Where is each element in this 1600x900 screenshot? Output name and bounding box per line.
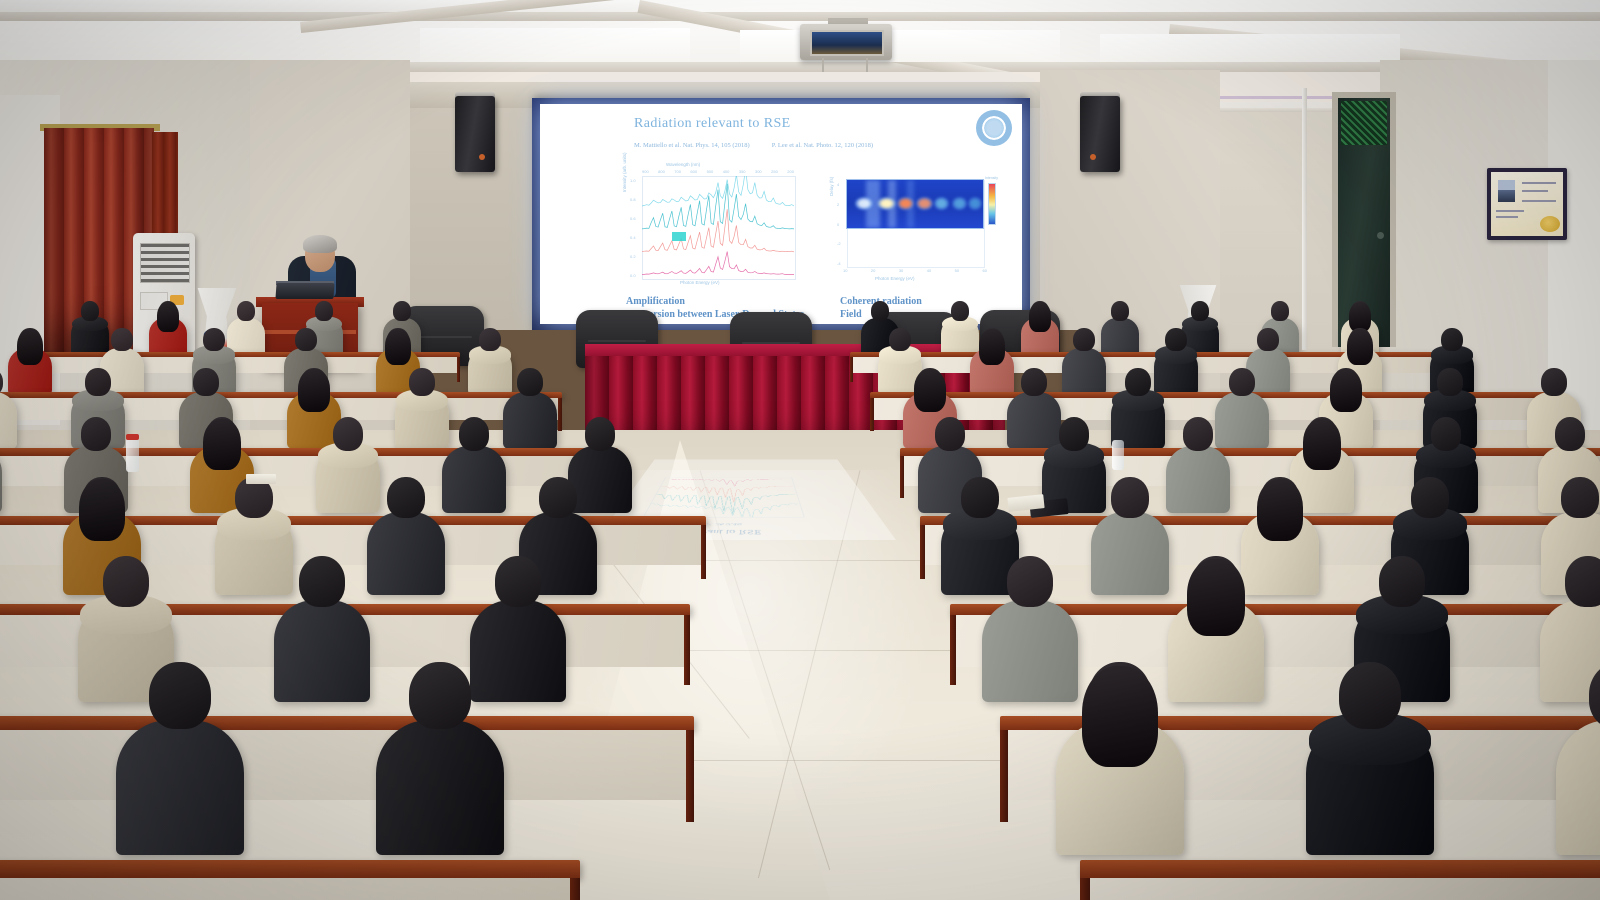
attendee-head	[393, 301, 411, 321]
attendee-body	[376, 720, 503, 855]
desk-top	[1080, 860, 1600, 878]
attendee-head	[517, 368, 543, 396]
attendee-head	[193, 368, 219, 396]
attendee-head	[1191, 301, 1209, 321]
attendee-long-hair	[1082, 666, 1158, 767]
audience-seating-area	[0, 0, 1600, 900]
desk-leg	[457, 357, 460, 381]
desk-leg	[900, 456, 904, 498]
attendee-head	[961, 477, 999, 518]
attendee-head	[299, 556, 346, 607]
attendee-long-hair	[1330, 369, 1362, 412]
attendee-head	[1257, 328, 1279, 352]
attendee-head	[1411, 477, 1449, 518]
attendee-head	[495, 556, 542, 607]
attendee-body	[367, 512, 445, 595]
attendee-head	[889, 328, 911, 352]
attendee-head	[1073, 328, 1095, 352]
attendee-long-hair	[1187, 559, 1245, 636]
attendee-head	[1059, 417, 1090, 451]
attendee-head	[1561, 477, 1599, 518]
attendee-head	[1339, 662, 1401, 730]
desk-leg	[686, 730, 694, 822]
desk-panel	[0, 878, 580, 900]
attendee-long-hair	[1347, 329, 1374, 365]
attendee-long-hair	[203, 419, 241, 469]
attendee-body	[503, 392, 556, 449]
water-bottle-cap	[126, 434, 139, 440]
attendee-head	[387, 477, 425, 518]
attendee-head	[409, 368, 435, 396]
attendee-body	[1007, 392, 1060, 449]
desk-leg	[1000, 730, 1008, 822]
attendee-head	[1271, 301, 1289, 321]
attendee-head	[1437, 368, 1463, 396]
attendee-body	[470, 600, 566, 702]
desk-panel	[0, 730, 694, 800]
desk-leg	[558, 398, 562, 430]
attendee-head	[81, 417, 112, 451]
attendee-head	[1021, 368, 1047, 396]
attendee-body	[442, 446, 505, 513]
attendee-head	[585, 417, 616, 451]
notebook-on-desk[interactable]	[246, 474, 276, 484]
attendee-head	[333, 417, 364, 451]
attendee-head	[111, 328, 133, 352]
desk-leg	[684, 615, 690, 685]
attendee-head	[871, 301, 889, 321]
attendee-head	[951, 301, 969, 321]
attendee-head	[1183, 417, 1214, 451]
attendee-long-hair	[17, 329, 44, 365]
attendee-long-hair	[914, 369, 946, 412]
lecture-hall-scene: Radiation relevant to RSE M. Mattiello e…	[0, 0, 1600, 900]
attendee-long-hair	[1029, 302, 1051, 332]
desk-leg	[950, 615, 956, 685]
attendee-head	[1165, 328, 1187, 352]
attendee-body	[982, 600, 1078, 702]
attendee-long-hair	[1257, 479, 1304, 541]
attendee-head	[1565, 556, 1600, 607]
attendee-body	[1215, 392, 1268, 449]
attendee-head	[103, 556, 150, 607]
attendee-head	[295, 328, 317, 352]
desk-leg	[850, 357, 853, 381]
desk-top	[0, 860, 580, 878]
desk-leg	[701, 525, 706, 579]
desk-panel	[1080, 878, 1600, 900]
attendee-body	[1062, 348, 1107, 396]
attendee-head	[1111, 301, 1129, 321]
desk-leg	[570, 878, 580, 900]
attendee-head	[409, 662, 471, 730]
attendee-long-hair	[979, 329, 1006, 365]
desk-top	[900, 448, 1600, 456]
desk-leg	[1080, 878, 1090, 900]
attendee-head	[149, 662, 211, 730]
attendee-head	[459, 417, 490, 451]
attendee-head	[237, 301, 255, 321]
attendee-head	[935, 417, 966, 451]
desk-top	[0, 716, 694, 730]
attendee-body	[1166, 446, 1229, 513]
attendee-head	[1541, 368, 1567, 396]
attendee-long-hair	[298, 369, 330, 412]
attendee-head	[315, 301, 333, 321]
attendee-head	[1555, 417, 1586, 451]
desk-leg	[920, 525, 925, 579]
attendee-head	[1125, 368, 1151, 396]
attendee-head	[539, 477, 577, 518]
attendee-head	[81, 301, 99, 321]
attendee-body	[116, 720, 243, 855]
attendee-long-hair	[1303, 419, 1341, 469]
attendee-body	[568, 446, 631, 513]
attendee-head	[1229, 368, 1255, 396]
attendee-long-hair	[79, 479, 126, 541]
attendee-long-hair	[385, 329, 412, 365]
attendee-head	[479, 328, 501, 352]
water-bottle-on-desk[interactable]	[126, 438, 139, 472]
attendee-head	[85, 368, 111, 396]
desk-panel	[900, 456, 1600, 486]
attendee-head	[203, 328, 225, 352]
attendee-body	[1091, 512, 1169, 595]
attendee-head	[1379, 556, 1426, 607]
attendee-head	[1111, 477, 1149, 518]
desk-leg	[870, 398, 874, 430]
water-bottle-on-desk[interactable]	[1112, 440, 1124, 470]
attendee-head	[1441, 328, 1463, 352]
attendee-head	[1431, 417, 1462, 451]
attendee-long-hair	[157, 302, 179, 332]
attendee-body	[274, 600, 370, 702]
attendee-head	[1007, 556, 1054, 607]
